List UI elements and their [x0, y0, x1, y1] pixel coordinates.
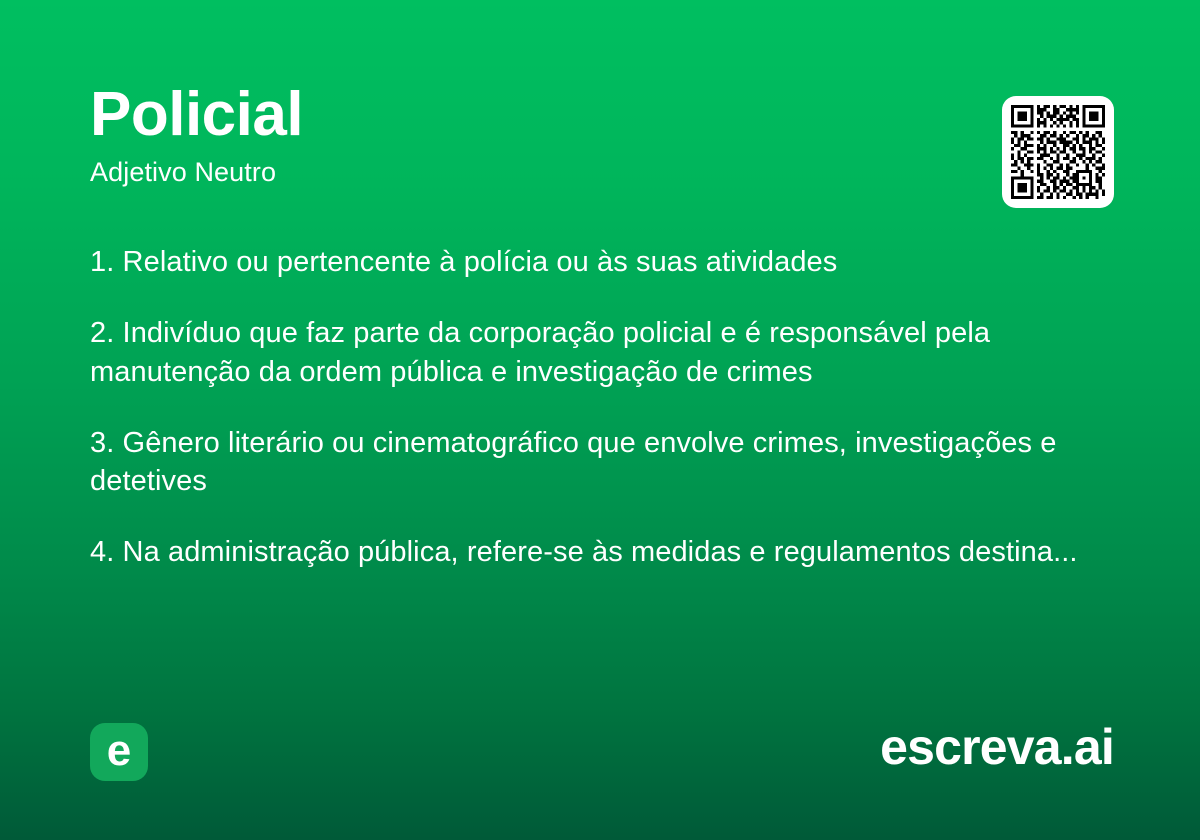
definition-list: 1. Relativo ou pertencente à polícia ou …	[90, 243, 1125, 572]
definition-item: 1. Relativo ou pertencente à polícia ou …	[90, 243, 1125, 281]
definition-item: 2. Indivíduo que faz parte da corporação…	[90, 314, 1125, 391]
qr-code-icon	[1011, 105, 1105, 199]
word-class-label: Adjetivo Neutro	[90, 158, 950, 188]
definition-item: 3. Gênero literário ou cinematográfico q…	[90, 424, 1125, 501]
brand-wordmark: escreva.ai	[880, 722, 1114, 772]
qr-code-card[interactable]	[1002, 96, 1114, 208]
page-title: Policial	[90, 84, 950, 146]
definition-item: 4. Na administração pública, refere-se à…	[90, 533, 1125, 571]
escreva-logo-icon: e	[90, 723, 148, 781]
card-header: Policial Adjetivo Neutro	[90, 84, 950, 188]
dictionary-card: Policial Adjetivo Neutro	[0, 0, 1200, 840]
logo-letter: e	[107, 729, 131, 773]
